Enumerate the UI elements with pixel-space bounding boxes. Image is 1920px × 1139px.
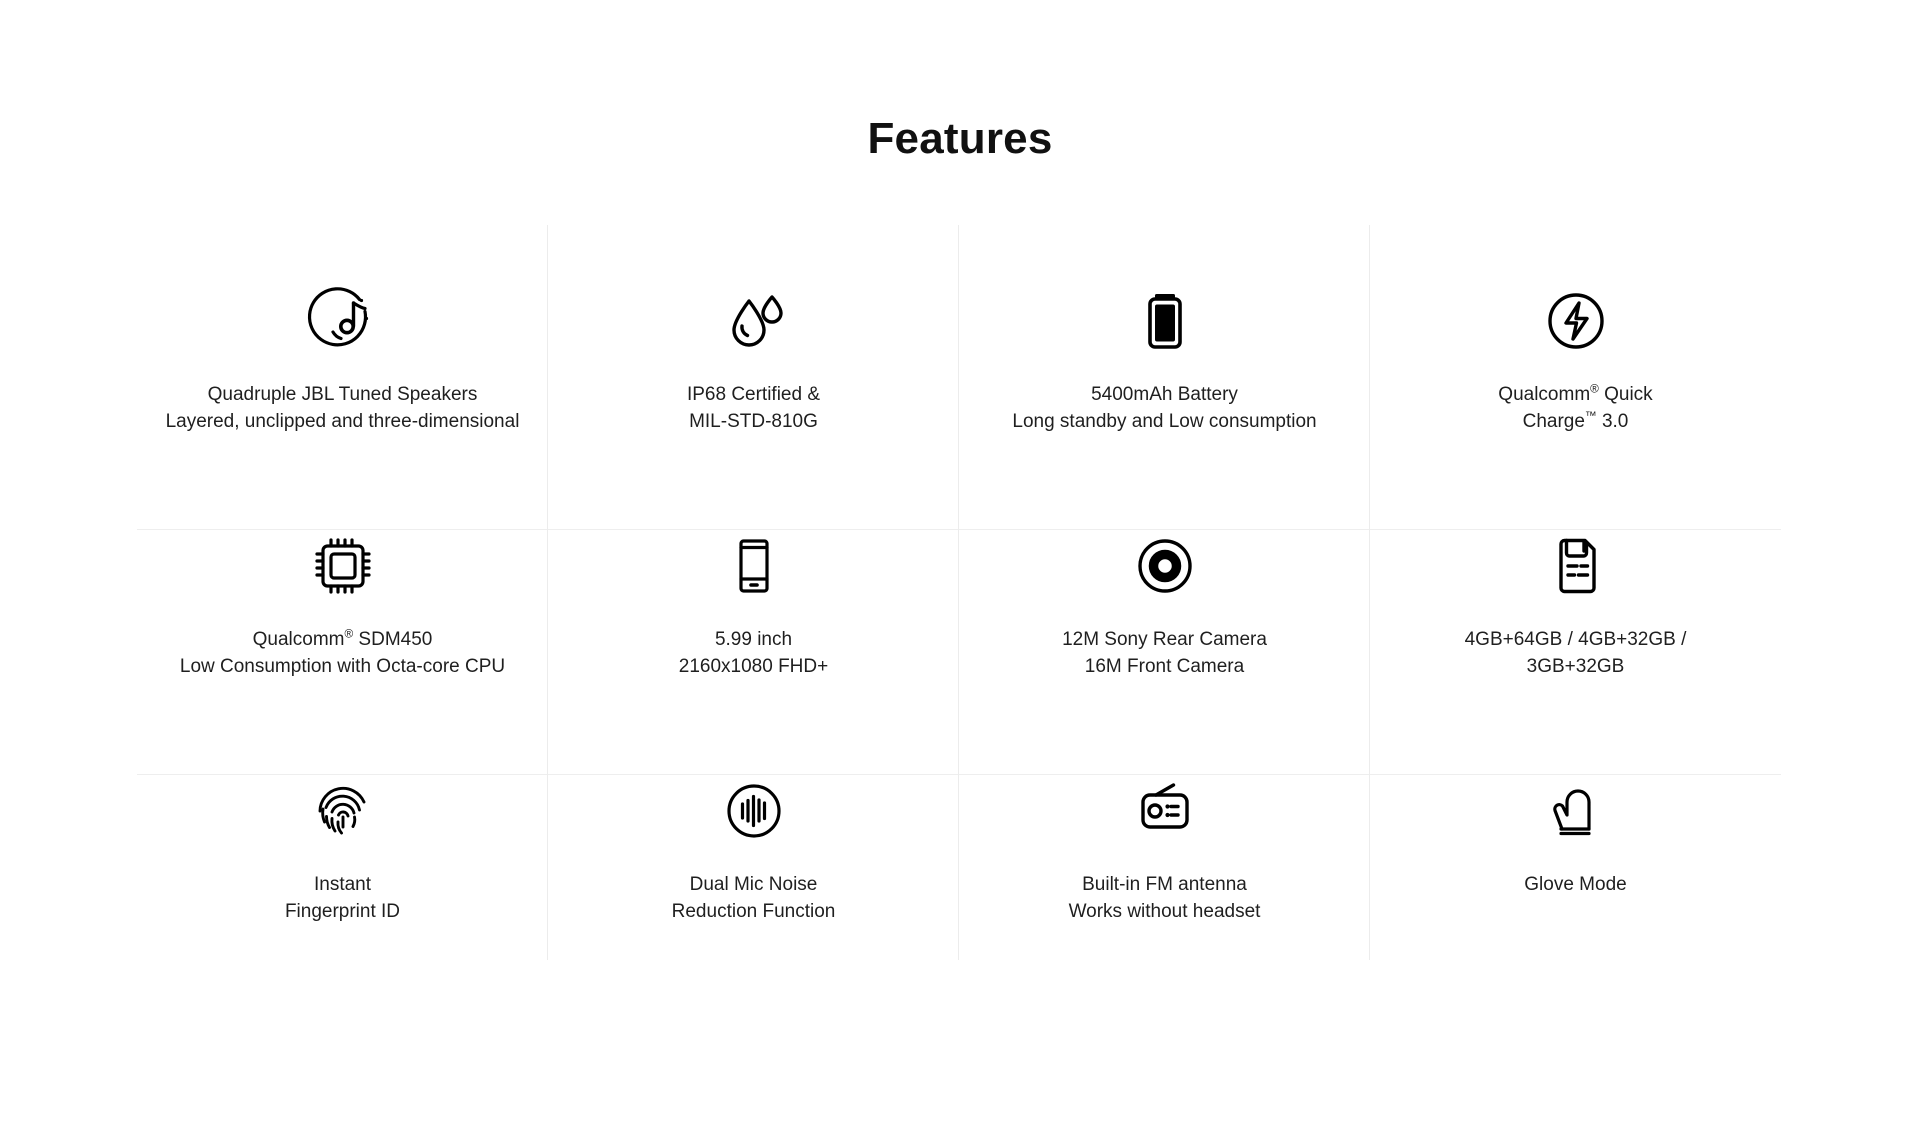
feature-line-2-suffix: 3.0: [1597, 411, 1629, 432]
registered-mark: ®: [1590, 383, 1599, 396]
trademark-mark: ™: [1585, 410, 1597, 423]
feature-line-2: Long standby and Low consumption: [1012, 408, 1316, 435]
feature-cell-display: 5.99 inch 2160x1080 FHD+: [548, 500, 959, 745]
feature-cell-speakers: Quadruple JBL Tuned Speakers Layered, un…: [137, 255, 548, 500]
feature-cell-glove-mode: Glove Mode: [1370, 745, 1781, 990]
feature-text: Instant Fingerprint ID: [285, 871, 400, 925]
feature-line-1: 5400mAh Battery: [1012, 381, 1316, 408]
feature-cell-camera: 12M Sony Rear Camera 16M Front Camera: [959, 500, 1370, 745]
radio-icon: [1129, 767, 1201, 855]
feature-line-2-text: Charge: [1523, 411, 1585, 432]
feature-line-1-suffix: SDM450: [353, 629, 432, 650]
feature-line-2: Low Consumption with Octa-core CPU: [180, 653, 505, 680]
fingerprint-icon: [307, 767, 379, 855]
feature-line-2: 3GB+32GB: [1465, 653, 1687, 680]
feature-text: 5.99 inch 2160x1080 FHD+: [679, 626, 828, 680]
feature-line-1: Qualcomm® Quick: [1498, 381, 1652, 408]
smartphone-icon: [718, 522, 790, 610]
feature-line-1-text: Qualcomm: [1498, 384, 1590, 405]
feature-line-1: Dual Mic Noise: [672, 871, 836, 898]
feature-cell-waterproof: IP68 Certified & MIL-STD-810G: [548, 255, 959, 500]
feature-text: Glove Mode: [1524, 871, 1626, 898]
feature-cell-fingerprint: Instant Fingerprint ID: [137, 745, 548, 990]
cpu-chip-icon: [307, 522, 379, 610]
feature-line-1-text: Qualcomm: [253, 629, 345, 650]
feature-line-1: Quadruple JBL Tuned Speakers: [166, 381, 520, 408]
feature-text: Dual Mic Noise Reduction Function: [672, 871, 836, 925]
feature-cell-memory: 4GB+64GB / 4GB+32GB / 3GB+32GB: [1370, 500, 1781, 745]
feature-cell-quick-charge: Qualcomm® Quick Charge™ 3.0: [1370, 255, 1781, 500]
feature-text: 5400mAh Battery Long standby and Low con…: [1012, 381, 1316, 435]
sound-wave-circle-icon: [718, 767, 790, 855]
feature-line-1: Instant: [285, 871, 400, 898]
glove-mitten-icon: [1540, 767, 1612, 855]
feature-line-2: MIL-STD-810G: [687, 408, 820, 435]
feature-text: Built-in FM antenna Works without headse…: [1069, 871, 1261, 925]
feature-line-2: Reduction Function: [672, 898, 836, 925]
lightning-bolt-circle-icon: [1540, 277, 1612, 365]
feature-line-2: 16M Front Camera: [1062, 653, 1267, 680]
feature-cell-dual-mic: Dual Mic Noise Reduction Function: [548, 745, 959, 990]
feature-line-1: Built-in FM antenna: [1069, 871, 1261, 898]
feature-line-1: 5.99 inch: [679, 626, 828, 653]
feature-text: IP68 Certified & MIL-STD-810G: [687, 381, 820, 435]
feature-line-2: Fingerprint ID: [285, 898, 400, 925]
feature-line-1: Glove Mode: [1524, 871, 1626, 898]
feature-line-2: Charge™ 3.0: [1498, 408, 1652, 435]
battery-icon: [1129, 277, 1201, 365]
camera-lens-icon: [1129, 522, 1201, 610]
memory-card-icon: [1540, 522, 1612, 610]
feature-line-1: 4GB+64GB / 4GB+32GB /: [1465, 626, 1687, 653]
feature-line-2: 2160x1080 FHD+: [679, 653, 828, 680]
feature-text: 12M Sony Rear Camera 16M Front Camera: [1062, 626, 1267, 680]
vinyl-music-disc-icon: [307, 277, 379, 365]
feature-cell-processor: Qualcomm® SDM450 Low Consumption with Oc…: [137, 500, 548, 745]
registered-mark: ®: [344, 628, 353, 641]
feature-line-2: Works without headset: [1069, 898, 1261, 925]
features-grid: Quadruple JBL Tuned Speakers Layered, un…: [137, 255, 1781, 990]
features-page: Features Quadruple JBL Tuned Speakers La…: [0, 0, 1920, 1139]
feature-cell-battery: 5400mAh Battery Long standby and Low con…: [959, 255, 1370, 500]
page-title: Features: [0, 117, 1920, 161]
feature-line-1: 12M Sony Rear Camera: [1062, 626, 1267, 653]
feature-line-1: Qualcomm® SDM450: [180, 626, 505, 653]
feature-line-1: IP68 Certified &: [687, 381, 820, 408]
feature-text: Quadruple JBL Tuned Speakers Layered, un…: [166, 381, 520, 435]
feature-line-1-suffix: Quick: [1599, 384, 1653, 405]
feature-cell-fm-radio: Built-in FM antenna Works without headse…: [959, 745, 1370, 990]
water-drop-icon: [718, 277, 790, 365]
feature-line-2: Layered, unclipped and three-dimensional: [166, 408, 520, 435]
feature-text: 4GB+64GB / 4GB+32GB / 3GB+32GB: [1465, 626, 1687, 680]
feature-text: Qualcomm® SDM450 Low Consumption with Oc…: [180, 626, 505, 680]
feature-text: Qualcomm® Quick Charge™ 3.0: [1498, 381, 1652, 435]
